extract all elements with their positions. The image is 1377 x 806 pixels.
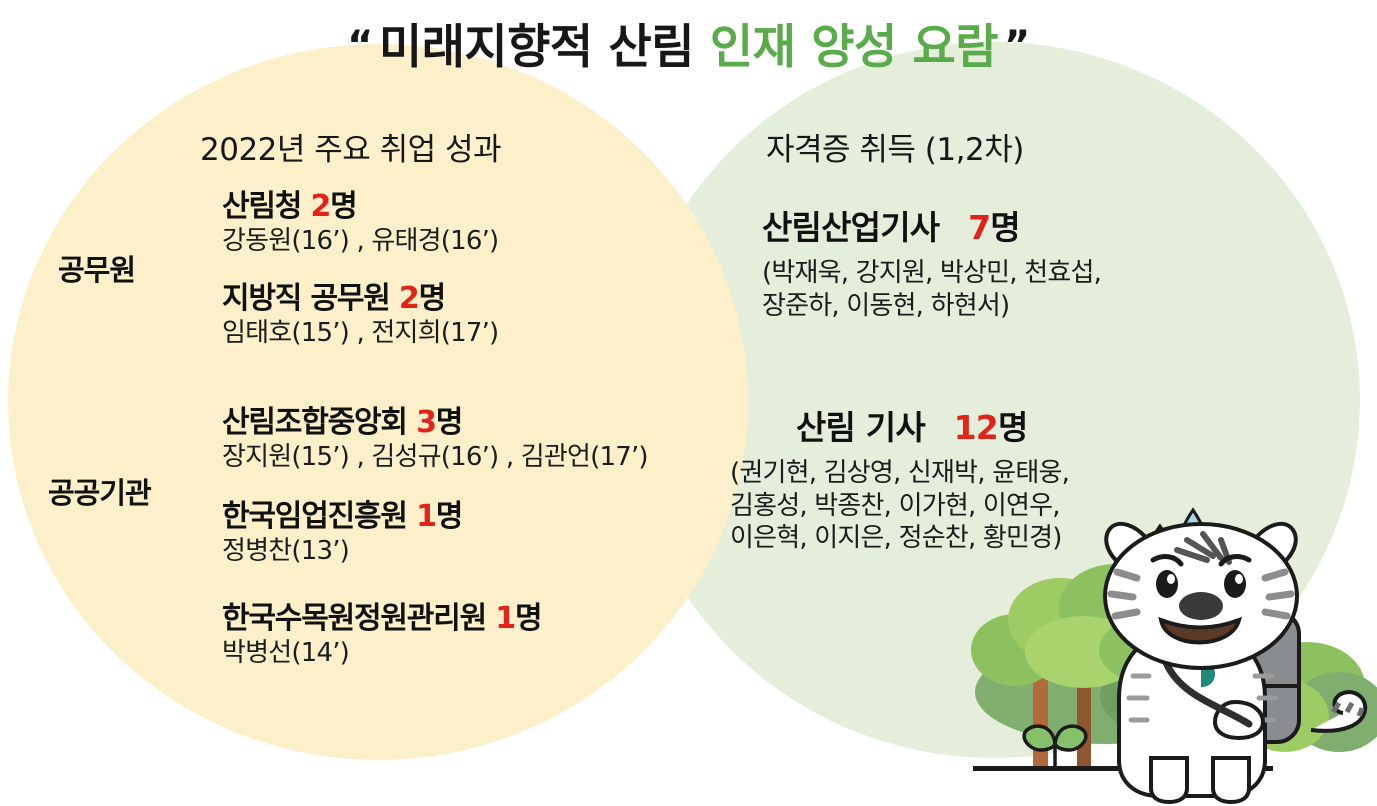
tiger-eye [1156, 570, 1178, 598]
group-label-public-officials: 공무원 [58, 247, 135, 289]
employment-org-name: 한국임업진흥원 [222, 499, 407, 534]
employment-unit: 명 [330, 189, 356, 224]
certification-unit: 명 [998, 408, 1028, 447]
employment-unit: 명 [419, 281, 445, 316]
certification-entry: 산림산업기사 7명 (박재욱, 강지원, 박상민, 천효섭, 장준하, 이동현,… [762, 210, 1101, 322]
group-label-public-institutions: 공공기관 [48, 470, 151, 512]
title-part-dark: 미래지향적 산림 [379, 20, 694, 75]
employment-count: 1 [495, 601, 515, 636]
employment-count: 1 [416, 499, 436, 534]
employment-org-line: 지방직 공무원 2명 [222, 282, 498, 316]
title-quote-open: “ [341, 23, 379, 69]
certification-names-line: (박재욱, 강지원, 박상민, 천효섭, [762, 258, 1101, 288]
employment-org-name: 산림조합중앙회 [222, 405, 407, 440]
employment-count: 2 [399, 281, 419, 316]
employment-org-line: 한국임업진흥원 1명 [222, 500, 462, 534]
title-part-green: 인재 양성 요람 [710, 20, 998, 75]
page-title: “미래지향적 산림 인재 양성 요람” [0, 22, 1377, 74]
certification-names-line: 장준하, 이동현, 하현서) [762, 291, 1009, 321]
employment-unit: 명 [436, 405, 462, 440]
infographic-page: “미래지향적 산림 인재 양성 요람” 2022년 주요 취업 성과 공무원 공… [0, 0, 1377, 806]
employment-names: 장지원(15’) , 김성규(16’) , 김관언(17’) [222, 442, 648, 473]
employment-org-line: 한국수목원정원관리원 1명 [222, 602, 541, 636]
certification-names: (박재욱, 강지원, 박상민, 천효섭, 장준하, 이동현, 하현서) [762, 257, 1101, 323]
left-circle-content: 2022년 주요 취업 성과 공무원 공공기관 산림청 2명 강동원(16’) … [0, 110, 700, 730]
employment-count: 2 [310, 189, 330, 224]
employment-names: 임태호(15’) , 전지희(17’) [222, 318, 498, 349]
employment-unit: 명 [436, 499, 462, 534]
tiger-nose [1179, 592, 1223, 620]
employment-entry: 지방직 공무원 2명 임태호(15’) , 전지희(17’) [222, 282, 498, 349]
left-circle-heading: 2022년 주요 취업 성과 [200, 124, 501, 169]
certification-title-line: 산림 기사 12명 [730, 410, 1069, 447]
certification-unit: 명 [990, 208, 1020, 247]
certification-names-line: (권기현, 김상영, 신재박, 윤태웅, [730, 458, 1069, 488]
employment-names: 강동원(16’) , 유태경(16’) [222, 226, 498, 257]
employment-unit: 명 [515, 601, 541, 636]
employment-org-line: 산림조합중앙회 3명 [222, 406, 648, 440]
certification-name: 산림 기사 [796, 408, 925, 447]
employment-org-line: 산림청 2명 [222, 190, 498, 224]
tiger-eye [1224, 570, 1246, 598]
mascot-illustration [955, 500, 1377, 806]
employment-org-name: 한국수목원정원관리원 [222, 601, 486, 636]
employment-entry: 한국임업진흥원 1명 정병찬(13’) [222, 500, 462, 567]
employment-entry: 산림조합중앙회 3명 장지원(15’) , 김성규(16’) , 김관언(17’… [222, 406, 648, 473]
employment-names: 박병선(14’) [222, 638, 541, 669]
employment-entry: 산림청 2명 강동원(16’) , 유태경(16’) [222, 190, 498, 257]
employment-count: 3 [416, 405, 436, 440]
right-circle-heading: 자격증 취득 (1,2차) [766, 124, 1024, 169]
employment-org-name: 지방직 공무원 [222, 281, 390, 316]
certification-name: 산림산업기사 [762, 208, 939, 247]
employment-entry: 한국수목원정원관리원 1명 박병선(14’) [222, 602, 541, 669]
certification-count: 7 [950, 208, 990, 247]
certification-count: 12 [936, 408, 998, 447]
tiger-head [1105, 524, 1297, 668]
employment-names: 정병찬(13’) [222, 536, 462, 567]
certification-title-line: 산림산업기사 7명 [762, 210, 1101, 247]
title-quote-close: ” [998, 23, 1036, 69]
employment-org-name: 산림청 [222, 189, 301, 224]
